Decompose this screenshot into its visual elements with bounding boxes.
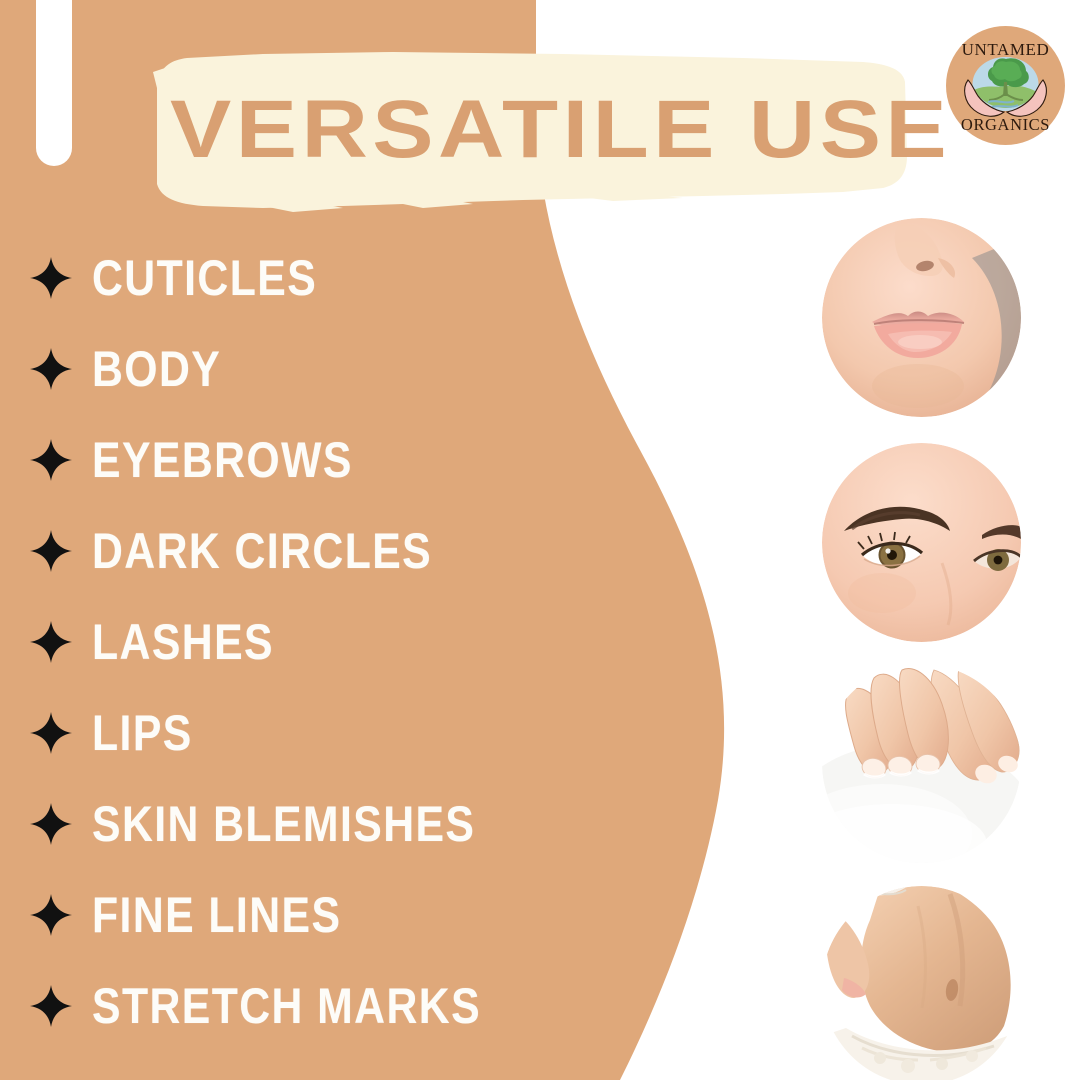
list-item: SKIN BLEMISHES: [28, 778, 588, 869]
list-item: LASHES: [28, 596, 588, 687]
list-item-label: LIPS: [92, 703, 193, 761]
list-item: EYEBROWS: [28, 414, 588, 505]
hands-nails-closeup-photo: [822, 664, 1021, 863]
four-point-star-icon: [28, 983, 74, 1029]
accent-bar: [36, 0, 72, 166]
four-point-star-icon: [28, 619, 74, 665]
list-item: LIPS: [28, 687, 588, 778]
list-item: CUTICLES: [28, 232, 588, 323]
list-item: BODY: [28, 323, 588, 414]
versatile-use-list: CUTICLES BODY EYEBROWS DARK CIRCLES LASH…: [28, 232, 588, 1051]
four-point-star-icon: [28, 528, 74, 574]
list-item: DARK CIRCLES: [28, 505, 588, 596]
four-point-star-icon: [28, 892, 74, 938]
torso-waist-closeup-photo: [822, 886, 1021, 1080]
logo-bottom-text: ORGANICS: [961, 115, 1050, 134]
list-item-label: FINE LINES: [92, 885, 341, 943]
list-item-label: LASHES: [92, 612, 274, 670]
four-point-star-icon: [28, 437, 74, 483]
list-item: STRETCH MARKS: [28, 960, 588, 1051]
list-item-label: STRETCH MARKS: [92, 976, 481, 1034]
four-point-star-icon: [28, 710, 74, 756]
list-item-label: SKIN BLEMISHES: [92, 794, 475, 852]
brand-logo: UNTAMED ORGANICS: [946, 26, 1065, 145]
lips-closeup-photo: [822, 218, 1021, 417]
four-point-star-icon: [28, 255, 74, 301]
list-item-label: BODY: [92, 339, 221, 397]
four-point-star-icon: [28, 346, 74, 392]
list-item-label: DARK CIRCLES: [92, 521, 432, 579]
page-title: VERSATILE USE: [170, 75, 976, 185]
four-point-star-icon: [28, 801, 74, 847]
list-item: FINE LINES: [28, 869, 588, 960]
list-item-label: CUTICLES: [92, 248, 317, 306]
list-item-label: EYEBROWS: [92, 430, 353, 488]
eyebrows-eyes-closeup-photo: [822, 443, 1021, 642]
poster-canvas: VERSATILE USE UNTAMED ORGANICS: [0, 0, 1080, 1080]
logo-top-text: UNTAMED: [962, 40, 1050, 59]
